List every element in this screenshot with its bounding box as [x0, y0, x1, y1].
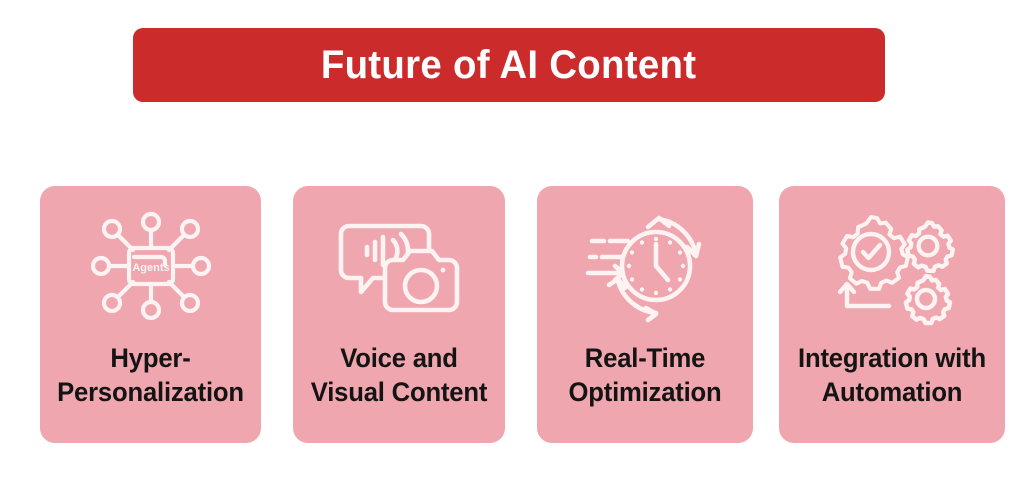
agents-label: Agents [132, 262, 169, 274]
clock-refresh-icon [537, 202, 753, 330]
page-title-banner: Future of AI Content [133, 28, 885, 102]
feature-card-label: Integration with Automation [764, 341, 1021, 410]
gears-checkmark-icon [779, 202, 1005, 330]
speech-bubble-camera-icon [293, 202, 505, 330]
page-title: Future of AI Content [321, 45, 696, 85]
feature-card-real-time-optimization[interactable]: Real-Time Optimization [537, 186, 753, 443]
feature-cards-row: Agents Hyper- Personalization [0, 186, 1024, 444]
feature-card-hyper-personalization[interactable]: Agents Hyper- Personalization [40, 186, 261, 443]
feature-card-voice-visual-content[interactable]: Voice and Visual Content [293, 186, 505, 443]
feature-card-label: Hyper- Personalization [25, 341, 277, 410]
feature-card-label: Voice and Visual Content [277, 341, 520, 410]
agents-network-icon: Agents [40, 202, 261, 330]
feature-card-label: Real-Time Optimization [522, 341, 769, 410]
feature-card-integration-automation[interactable]: Integration with Automation [779, 186, 1005, 443]
